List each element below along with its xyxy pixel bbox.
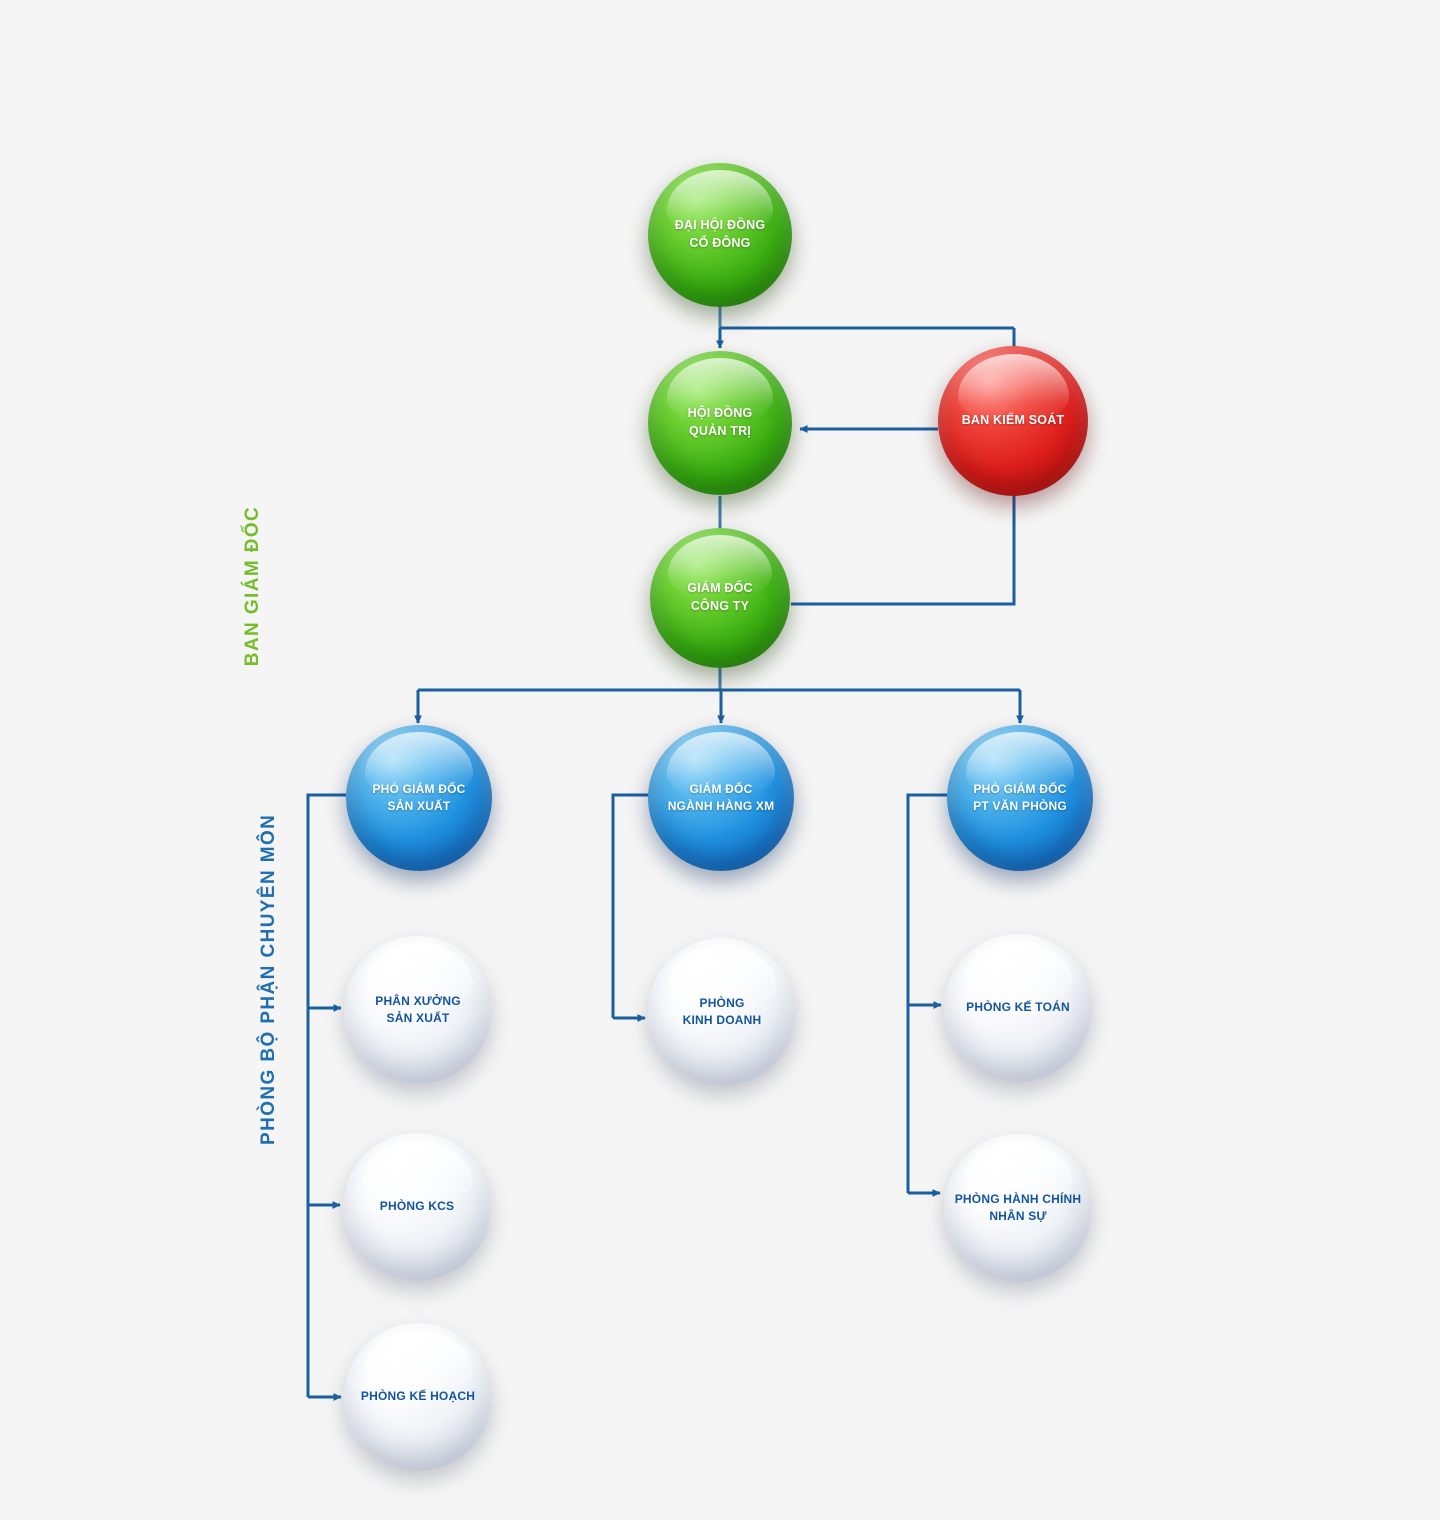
node-label: PHÒNG KINH DOANH bbox=[677, 995, 768, 1029]
node-hoi-dong-quan-tri[interactable]: HỘI ĐỒNG QUẢN TRỊ bbox=[648, 351, 792, 495]
node-label: PHÓ GIÁM ĐỐC PT VĂN PHÒNG bbox=[967, 781, 1073, 815]
node-dai-hoi-dong-co-dong[interactable]: ĐẠI HỘI ĐỒNG CỔ ĐÔNG bbox=[648, 163, 792, 307]
node-giam-doc-nganh-hang-xm[interactable]: GIÁM ĐỐC NGÀNH HÀNG XM bbox=[648, 725, 794, 871]
node-label: PHÂN XƯỞNG SẢN XUẤT bbox=[369, 993, 467, 1027]
side-caption-board: BAN GIÁM ĐỐC bbox=[242, 482, 264, 690]
edge-right-trunk bbox=[908, 795, 948, 1193]
node-ban-kiem-soat[interactable]: BAN KIỂM SOÁT bbox=[938, 346, 1088, 496]
node-label: HỘI ĐỒNG QUẢN TRỊ bbox=[682, 405, 759, 441]
org-chart-canvas: BAN GIÁM ĐỐC PHÒNG BỘ PHẬN CHUYÊN MÔN ĐẠ… bbox=[0, 0, 1440, 1520]
node-label: BAN KIỂM SOÁT bbox=[956, 412, 1071, 430]
node-label: PHÒNG KCS bbox=[374, 1198, 460, 1215]
edge-mid-trunk bbox=[613, 795, 650, 1018]
node-giam-doc-cong-ty[interactable]: GIÁM ĐỐC CÔNG TY bbox=[650, 528, 790, 668]
node-label: GIÁM ĐỐC CÔNG TY bbox=[681, 580, 759, 616]
node-phong-kinh-doanh[interactable]: PHÒNG KINH DOANH bbox=[648, 938, 796, 1086]
node-label: GIÁM ĐỐC NGÀNH HÀNG XM bbox=[662, 781, 781, 815]
node-label: ĐẠI HỘI ĐỒNG CỔ ĐÔNG bbox=[669, 217, 772, 253]
node-pho-giam-doc-san-xuat[interactable]: PHÓ GIÁM ĐỐC SẢN XUẤT bbox=[346, 725, 492, 871]
edge-left-trunk bbox=[308, 795, 346, 1397]
node-phong-ke-toan[interactable]: PHÒNG KẾ TOÁN bbox=[944, 934, 1092, 1082]
edge-bks-gdct bbox=[791, 493, 1014, 604]
node-phong-kcs[interactable]: PHÒNG KCS bbox=[343, 1133, 491, 1281]
node-phong-ke-hoach[interactable]: PHÒNG KẾ HOẠCH bbox=[344, 1323, 492, 1471]
node-label: PHÒNG KẾ HOẠCH bbox=[355, 1388, 481, 1405]
node-pho-giam-doc-pt-van-phong[interactable]: PHÓ GIÁM ĐỐC PT VĂN PHÒNG bbox=[947, 725, 1093, 871]
node-label: PHÓ GIÁM ĐỐC SẢN XUẤT bbox=[366, 781, 471, 815]
node-phong-hanh-chinh-nhan-su[interactable]: PHÒNG HÀNH CHÍNH NHÂN SỰ bbox=[944, 1134, 1092, 1282]
side-caption-departments: PHÒNG BỘ PHẬN CHUYÊN MÔN bbox=[258, 847, 280, 1145]
node-label: PHÒNG HÀNH CHÍNH NHÂN SỰ bbox=[949, 1191, 1088, 1225]
node-label: PHÒNG KẾ TOÁN bbox=[960, 999, 1076, 1016]
node-phan-xuong-san-xuat[interactable]: PHÂN XƯỞNG SẢN XUẤT bbox=[344, 936, 492, 1084]
